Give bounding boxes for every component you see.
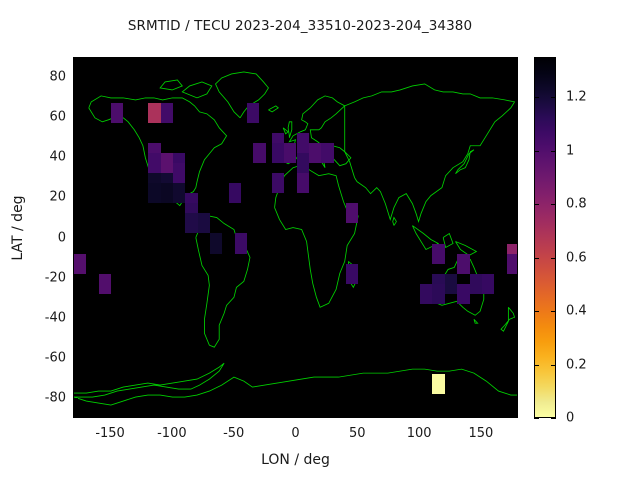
colorbar-tick-label: 1.2 xyxy=(566,90,587,105)
heatmap-cell xyxy=(420,284,432,304)
heatmap-cell xyxy=(198,213,210,233)
heatmap-cell xyxy=(309,143,321,163)
colorbar-tick-mark xyxy=(551,258,556,259)
colorbar-tick-mark xyxy=(534,311,539,312)
x-tick-mark xyxy=(481,57,482,62)
heatmap-cell xyxy=(272,143,284,163)
heatmap-cell xyxy=(445,274,457,294)
x-tick-mark xyxy=(110,57,111,62)
y-tick-mark xyxy=(73,238,78,239)
colorbar-tick-mark xyxy=(534,204,539,205)
y-tick-mark xyxy=(73,358,78,359)
colorbar-tick-mark xyxy=(534,418,539,419)
x-tick-mark xyxy=(481,413,482,418)
x-tick-label: 50 xyxy=(349,426,366,441)
heatmap-cell xyxy=(235,233,247,253)
heatmap-cell xyxy=(247,103,259,123)
x-axis-ticks: -150-100-50050100150 xyxy=(0,426,640,446)
x-tick-mark xyxy=(172,413,173,418)
x-tick-mark xyxy=(357,57,358,62)
heatmap-cell xyxy=(432,374,444,394)
y-tick-mark xyxy=(73,318,78,319)
y-tick-mark xyxy=(73,278,78,279)
x-tick-label: 150 xyxy=(468,426,493,441)
colorbar-tick-label: 0 xyxy=(566,411,574,426)
heatmap-cell xyxy=(297,153,309,173)
colorbar-tick-mark xyxy=(534,151,539,152)
y-tick-label: 80 xyxy=(6,70,66,85)
heatmap-cell xyxy=(297,133,309,153)
heatmap-cell xyxy=(482,274,494,294)
colorbar-tick-label: 0.4 xyxy=(566,304,587,319)
heatmap-cell xyxy=(185,213,197,233)
x-tick-mark xyxy=(357,413,358,418)
colorbar-tick-mark xyxy=(551,204,556,205)
x-tick-mark xyxy=(419,413,420,418)
x-tick-mark xyxy=(234,413,235,418)
heatmap-cell xyxy=(432,284,444,304)
map-plot-area[interactable] xyxy=(73,57,518,418)
colorbar-tick-label: 0.6 xyxy=(566,250,587,265)
heatmap-cell xyxy=(507,254,518,274)
heatmap-cell-layer xyxy=(74,58,517,417)
heatmap-cell xyxy=(297,173,309,193)
colorbar-tick-mark xyxy=(534,97,539,98)
heatmap-cell xyxy=(229,183,241,203)
heatmap-cell xyxy=(111,103,123,123)
colorbar-tick-mark xyxy=(534,365,539,366)
x-tick-label: 0 xyxy=(291,426,299,441)
colorbar-tick-mark xyxy=(534,258,539,259)
y-tick-mark xyxy=(513,398,518,399)
x-tick-mark xyxy=(172,57,173,62)
colorbar-tick-mark xyxy=(551,151,556,152)
heatmap-cell xyxy=(173,183,185,203)
colorbar-tick-label: 0.2 xyxy=(566,357,587,372)
x-tick-label: -150 xyxy=(95,426,125,441)
heatmap-cell xyxy=(148,103,160,123)
heatmap-cell xyxy=(432,244,444,264)
y-tick-mark xyxy=(73,157,78,158)
y-tick-label: -40 xyxy=(6,310,66,325)
x-tick-label: 100 xyxy=(407,426,432,441)
heatmap-cell xyxy=(284,143,296,163)
heatmap-cell xyxy=(148,183,160,203)
y-tick-mark xyxy=(513,358,518,359)
colorbar-tick-labels: 00.20.40.60.811.2 xyxy=(556,57,626,418)
heatmap-cell xyxy=(346,264,358,284)
y-tick-mark xyxy=(513,117,518,118)
y-tick-mark xyxy=(73,77,78,78)
y-axis-label: LAT / deg xyxy=(10,158,26,298)
y-tick-mark xyxy=(513,238,518,239)
colorbar-tick-mark xyxy=(551,97,556,98)
x-tick-mark xyxy=(296,413,297,418)
y-tick-mark xyxy=(73,197,78,198)
heatmap-cell xyxy=(161,103,173,123)
heatmap-cell xyxy=(321,143,333,163)
colorbar-tick-mark xyxy=(551,311,556,312)
plot-root: SRMTID / TECU 2023-204_33510-2023-204_34… xyxy=(0,0,640,480)
heatmap-cell xyxy=(173,163,185,183)
x-tick-mark xyxy=(110,413,111,418)
heatmap-cell xyxy=(99,274,111,294)
heatmap-cell xyxy=(457,284,469,304)
colorbar-tick-label: 1 xyxy=(566,143,574,158)
y-tick-mark xyxy=(513,278,518,279)
x-tick-mark xyxy=(296,57,297,62)
heatmap-cell xyxy=(346,203,358,223)
y-tick-mark xyxy=(73,398,78,399)
colorbar-gradient xyxy=(535,58,555,417)
x-tick-mark xyxy=(234,57,235,62)
colorbar-tick-mark xyxy=(551,418,556,419)
heatmap-cell xyxy=(148,153,160,173)
x-tick-label: -50 xyxy=(223,426,244,441)
x-tick-label: -100 xyxy=(157,426,187,441)
y-tick-mark xyxy=(513,77,518,78)
y-tick-label: -80 xyxy=(6,390,66,405)
plot-title: SRMTID / TECU 2023-204_33510-2023-204_34… xyxy=(0,18,600,34)
x-tick-mark xyxy=(419,57,420,62)
y-tick-mark xyxy=(73,117,78,118)
heatmap-cell xyxy=(470,274,482,294)
y-tick-label: -60 xyxy=(6,350,66,365)
colorbar-tick-mark xyxy=(551,365,556,366)
heatmap-cell xyxy=(253,143,265,163)
y-tick-mark xyxy=(513,157,518,158)
y-tick-mark xyxy=(513,318,518,319)
y-tick-mark xyxy=(513,197,518,198)
heatmap-cell xyxy=(161,153,173,173)
x-axis-label: LON / deg xyxy=(73,452,518,468)
heatmap-cell xyxy=(272,173,284,193)
heatmap-cell xyxy=(210,233,222,253)
heatmap-cell xyxy=(74,254,86,274)
heatmap-cell xyxy=(161,183,173,203)
colorbar-tick-label: 0.8 xyxy=(566,197,587,212)
heatmap-cell xyxy=(457,254,469,274)
y-tick-label: 60 xyxy=(6,110,66,125)
